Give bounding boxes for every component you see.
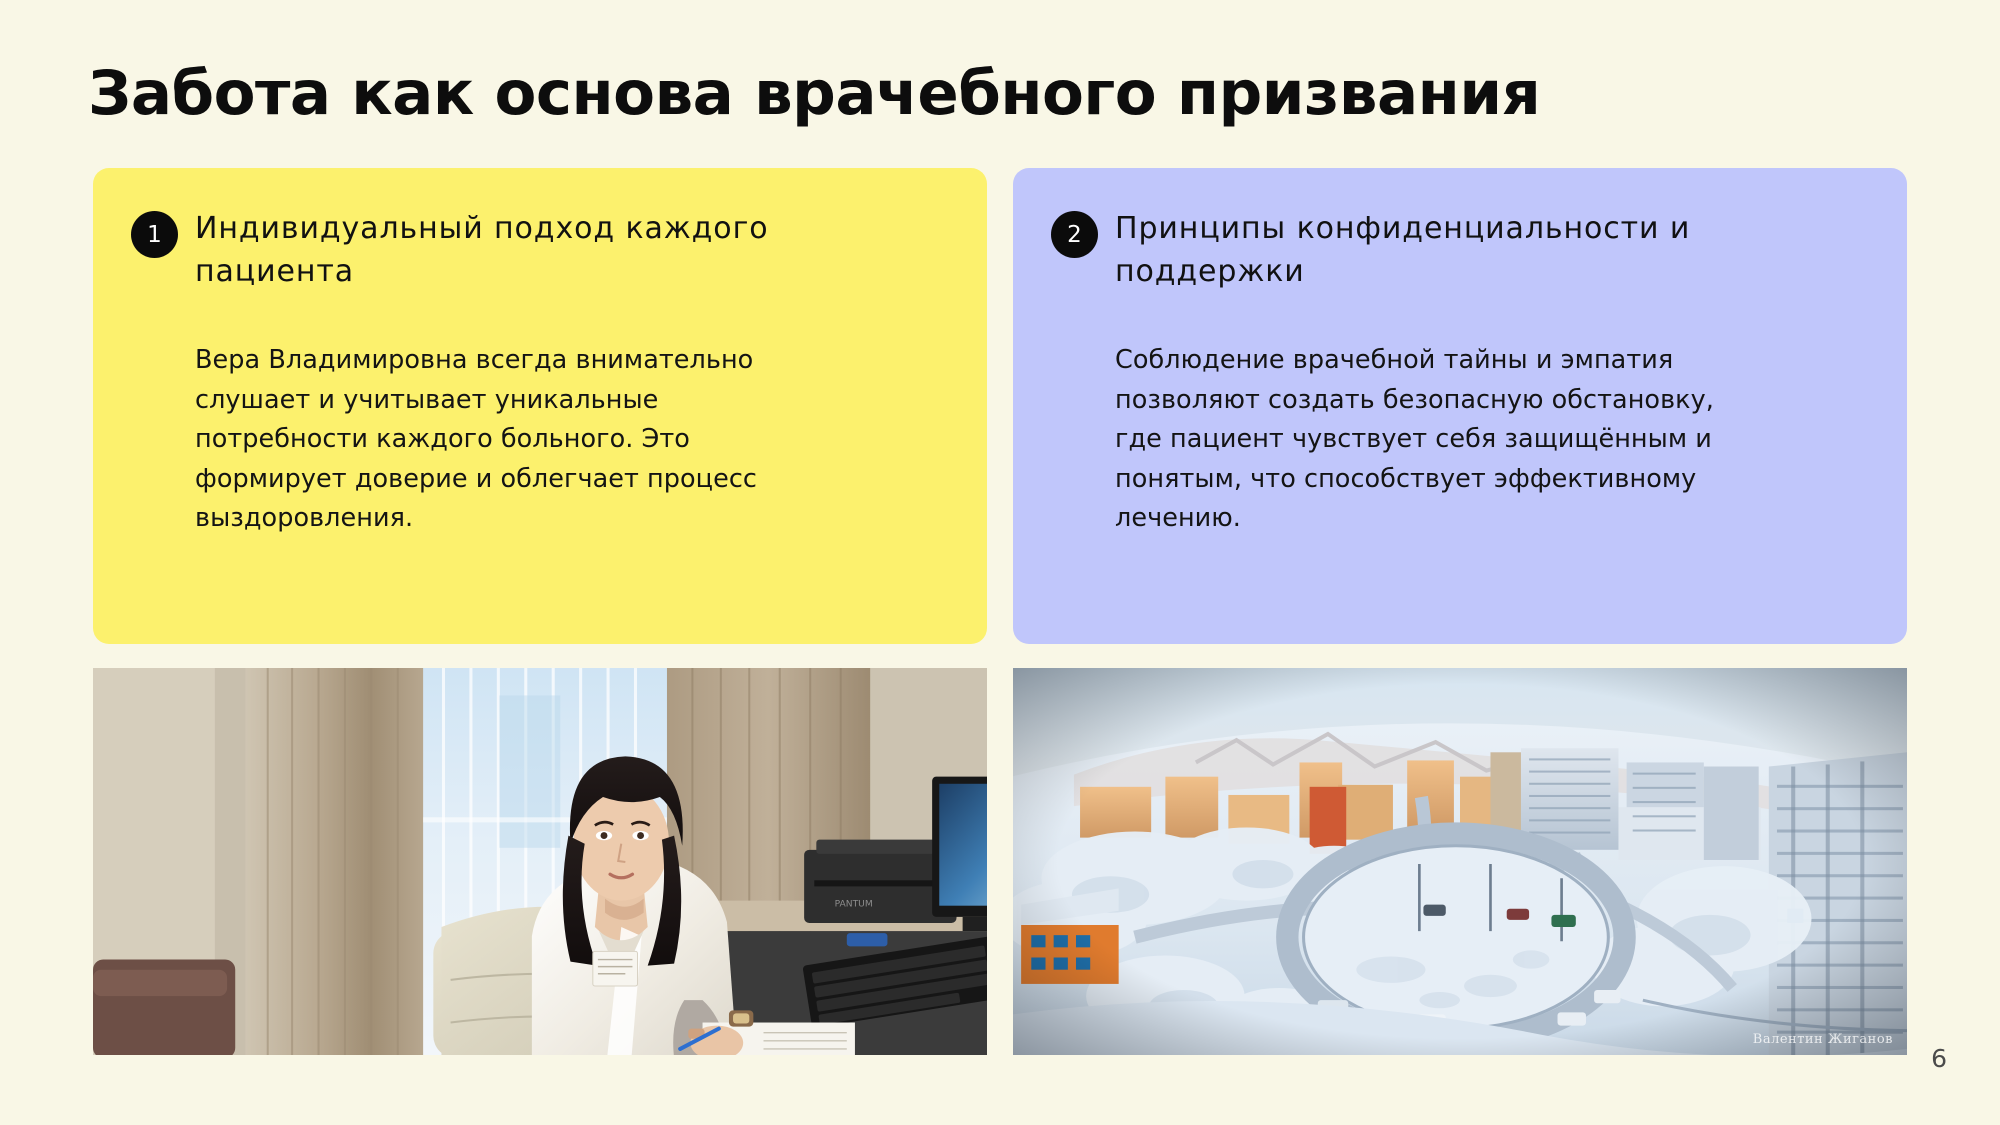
card-2-body: Соблюдение врачебной тайны и эмпатия поз… — [1115, 341, 1755, 539]
card-2-number-badge: 2 — [1051, 211, 1098, 258]
cards-row: 1 Индивидуальный подход каждого пациента… — [93, 168, 1907, 644]
page-title: Забота как основа врачебного призвания — [88, 62, 1908, 126]
slide: Забота как основа врачебного призвания 1… — [0, 0, 2000, 1125]
doctor-office-illustration: PANTUM — [93, 668, 987, 1055]
card-1[interactable]: 1 Индивидуальный подход каждого пациента… — [93, 168, 987, 644]
page-number: 6 — [1931, 1044, 1947, 1073]
photo-winter-city: Валентин Жиганов — [1013, 668, 1907, 1055]
card-1-body: Вера Владимировна всегда внимательно слу… — [195, 341, 815, 539]
card-2[interactable]: 2 Принципы конфиденциальности и поддержк… — [1013, 168, 1907, 644]
card-2-header: 2 Принципы конфиденциальности и поддержк… — [1051, 208, 1863, 293]
photos-row: PANTUM — [93, 668, 1907, 1055]
photo-doctor-office: PANTUM — [93, 668, 987, 1055]
card-1-header: 1 Индивидуальный подход каждого пациента — [131, 208, 943, 293]
card-1-title: Индивидуальный подход каждого пациента — [195, 208, 835, 293]
card-2-title: Принципы конфиденциальности и поддержки — [1115, 208, 1755, 293]
card-1-number-badge: 1 — [131, 211, 178, 258]
svg-text:PANTUM: PANTUM — [835, 900, 873, 910]
winter-city-illustration — [1013, 668, 1907, 1055]
